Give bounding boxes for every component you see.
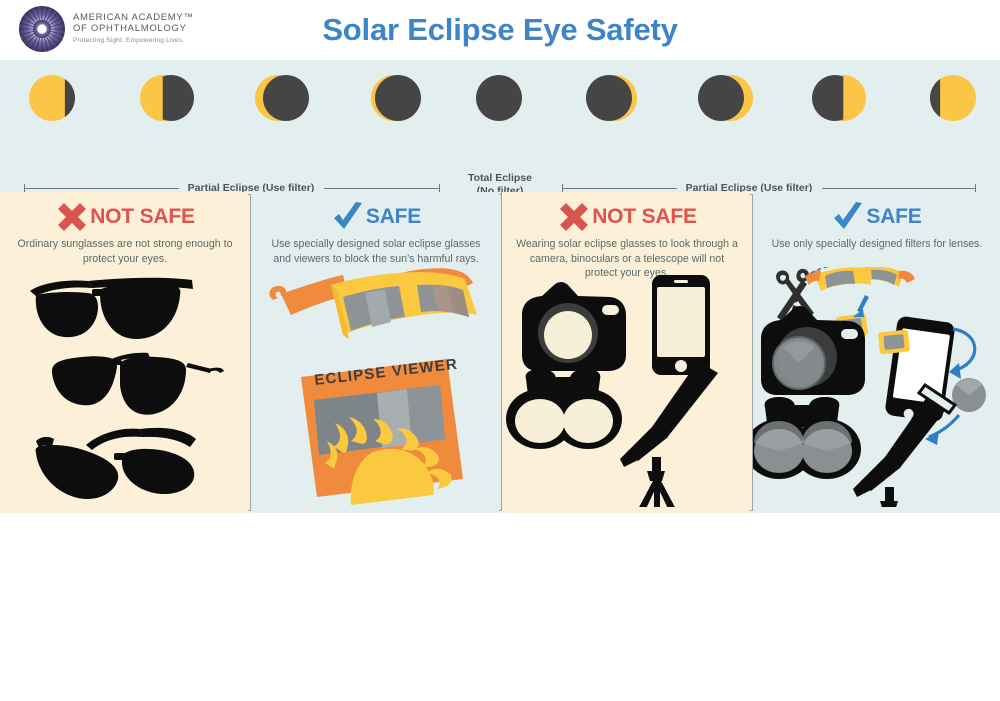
partial-rule-left: [24, 188, 179, 189]
sunglasses-illustration: [0, 267, 250, 507]
panel-caption: Use only specially designed filters for …: [767, 237, 987, 252]
verdict-not-safe: NOT SAFE: [502, 200, 752, 234]
eclipse-phase-3: [255, 70, 311, 126]
moon-disc: [375, 75, 421, 121]
eclipse-phase-9: [925, 70, 981, 126]
page-title: Solar Eclipse Eye Safety: [0, 12, 1000, 48]
verdict-label: SAFE: [366, 205, 421, 229]
panel-sunglasses: NOT SAFE Ordinary sunglasses are not str…: [0, 192, 250, 513]
panel-eclipse-glasses: SAFE Use specially designed solar eclips…: [251, 192, 501, 513]
moon-disc: [698, 75, 744, 121]
eclipse-phase-total: [473, 70, 529, 126]
blue-check-icon: [831, 201, 865, 233]
infographic-root: AMERICAN ACADEMY™ OF OPHTHALMOLOGY Prote…: [0, 0, 1000, 513]
panel-caption: Use specially designed solar eclipse gla…: [265, 237, 487, 266]
verdict-label: SAFE: [866, 205, 921, 229]
partial-rule-left-2: [324, 188, 439, 189]
panel-row: NOT SAFE Ordinary sunglasses are not str…: [0, 192, 1000, 513]
eclipse-phase-4: [371, 70, 427, 126]
red-x-icon: [55, 201, 89, 233]
moon-disc: [586, 75, 632, 121]
total-eclipse-label-line1: Total Eclipse: [440, 172, 560, 185]
header: AMERICAN ACADEMY™ OF OPHTHALMOLOGY Prote…: [0, 0, 1000, 60]
verdict-not-safe: NOT SAFE: [0, 200, 250, 234]
verdict-label: NOT SAFE: [90, 205, 195, 229]
partial-rule-right: [562, 188, 677, 189]
eclipse-glasses-illustration: ECLIPSE VIEWER: [251, 267, 501, 507]
moon-disc: [263, 75, 309, 121]
eclipse-phase-band: Partial Eclipse (Use filter) Partial Ecl…: [0, 60, 1000, 192]
moon-disc: [476, 75, 522, 121]
filtered-optics-illustration: [753, 267, 1000, 507]
eclipse-phase-8: [812, 70, 868, 126]
eclipse-phase-2: [140, 70, 196, 126]
eclipse-phase-7: [698, 70, 754, 126]
panel-unfiltered-optics: NOT SAFE Wearing solar eclipse glasses t…: [502, 192, 752, 513]
red-x-icon: [557, 201, 591, 233]
verdict-label: NOT SAFE: [592, 205, 697, 229]
eclipse-phase-1: [26, 70, 82, 126]
partial-rule-right-2: [822, 188, 975, 189]
verdict-safe: SAFE: [251, 200, 501, 234]
eclipse-phase-6: [584, 70, 640, 126]
unfiltered-optics-illustration: [502, 267, 752, 507]
panel-filtered-optics: SAFE Use only specially designed filters…: [753, 192, 1000, 513]
verdict-safe: SAFE: [753, 200, 1000, 234]
panel-caption: Ordinary sunglasses are not strong enoug…: [14, 237, 236, 266]
blue-check-icon: [331, 201, 365, 233]
